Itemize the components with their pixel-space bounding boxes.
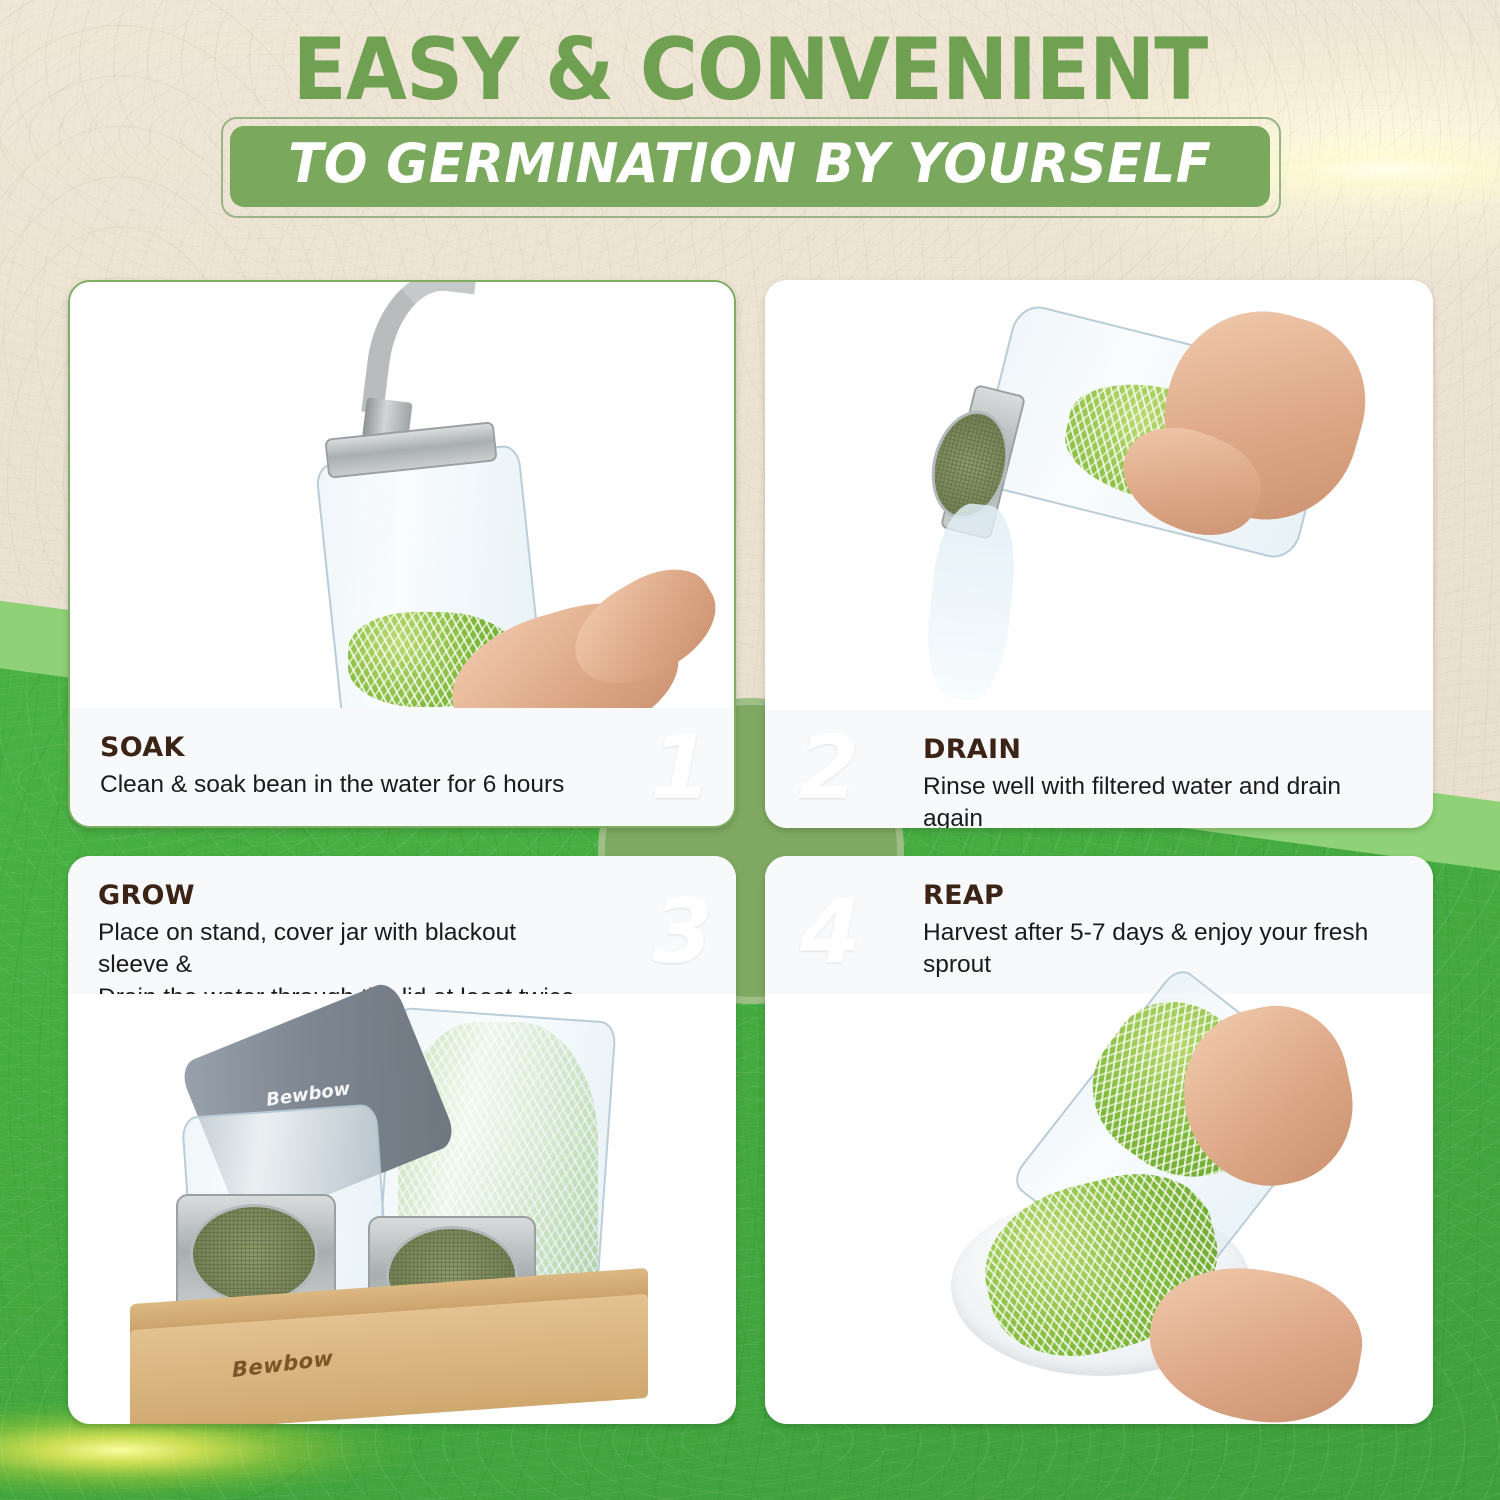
infographic-canvas: EASY & CONVENIENT TO GERMINATION BY YOUR… <box>0 0 1500 1500</box>
page-subtitle: TO GERMINATION BY YOURSELF <box>289 136 1212 193</box>
step-image-soak <box>70 282 734 712</box>
step-title-soak: SOAK <box>100 732 574 763</box>
step-title-drain: DRAIN <box>923 734 1403 765</box>
step-desc-grow-line1: Place on stand, cover jar with blackout … <box>98 917 576 982</box>
step-desc-drain: Rinse well with filtered water and drain… <box>923 771 1403 828</box>
step-image-reap <box>765 994 1433 1424</box>
subtitle-banner-fill: TO GERMINATION BY YOURSELF <box>230 126 1270 207</box>
step-card-reap: REAP Harvest after 5-7 days & enjoy your… <box>765 856 1433 1424</box>
page-title: EASY & CONVENIENT <box>60 28 1440 112</box>
water-pour-icon <box>921 500 1021 703</box>
step-caption-grow: GROW Place on stand, cover jar with blac… <box>68 856 736 994</box>
step-caption-drain: DRAIN Rinse well with filtered water and… <box>765 710 1433 828</box>
strainer-mesh-icon-left <box>190 1204 318 1304</box>
step-card-drain: DRAIN Rinse well with filtered water and… <box>765 280 1433 828</box>
step-number-3: 3 <box>652 888 713 976</box>
step-number-2: 2 <box>798 724 859 812</box>
step-title-grow: GROW <box>98 880 576 911</box>
step-number-4: 4 <box>800 888 861 976</box>
step-number-1: 1 <box>650 724 711 812</box>
step-title-reap: REAP <box>923 880 1403 911</box>
step-card-soak: SOAK Clean & soak bean in the water for … <box>68 280 736 828</box>
step-desc-soak: Clean & soak bean in the water for 6 hou… <box>100 769 574 801</box>
step-desc-reap: Harvest after 5-7 days & enjoy your fres… <box>923 917 1403 982</box>
step-caption-soak: SOAK Clean & soak bean in the water for … <box>70 708 734 826</box>
step-caption-reap: REAP Harvest after 5-7 days & enjoy your… <box>765 856 1433 994</box>
subtitle-banner: TO GERMINATION BY YOURSELF <box>230 126 1270 207</box>
step-image-drain <box>765 280 1433 710</box>
header: EASY & CONVENIENT TO GERMINATION BY YOUR… <box>0 28 1500 207</box>
step-image-grow: Bewbow Bewbow <box>68 994 736 1424</box>
step-card-grow: GROW Place on stand, cover jar with blac… <box>68 856 736 1424</box>
